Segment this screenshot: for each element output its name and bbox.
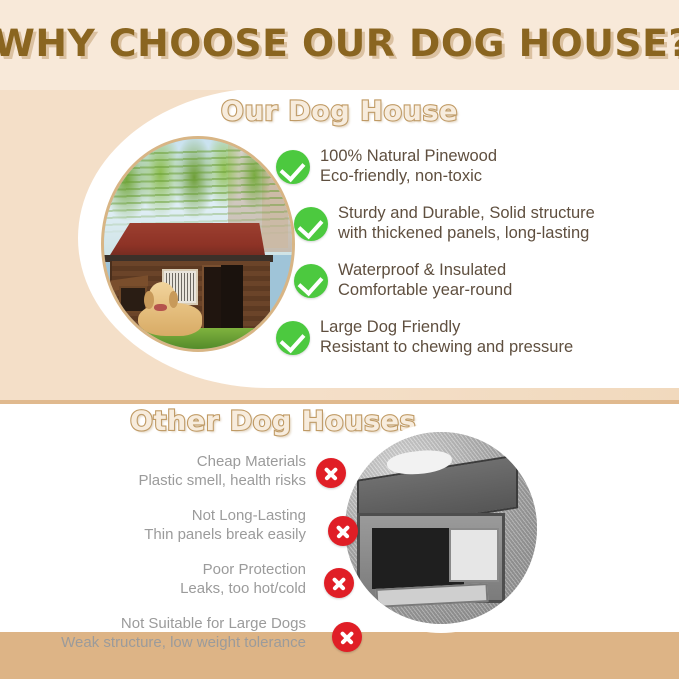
con-line-1: Cheap Materials: [20, 452, 306, 471]
list-item: 100% Natural Pinewood Eco-friendly, non-…: [276, 146, 676, 190]
photo-frame: [101, 136, 295, 352]
pro-line-1: Waterproof & Insulated: [338, 260, 676, 280]
photo-willow-strands: [104, 147, 292, 235]
page-title: WHY CHOOSE OUR DOG HOUSE?": [0, 22, 679, 65]
cons-list: Cheap Materials Plastic smell, health ri…: [20, 452, 350, 668]
pro-line-2: Resistant to chewing and pressure: [320, 337, 676, 358]
pro-line-2: Eco-friendly, non-toxic: [320, 166, 676, 187]
con-line-1: Not Long-Lasting: [20, 506, 306, 525]
pro-line-1: 100% Natural Pinewood: [320, 146, 676, 166]
photo-frame: [345, 432, 537, 624]
x-circle-icon: [324, 568, 354, 598]
photo-door-panel: [221, 265, 244, 328]
infographic-root: WHY CHOOSE OUR DOG HOUSE?" Our Dog House: [0, 0, 679, 679]
con-line-2: Thin panels break easily: [20, 525, 306, 545]
con-line-1: Not Suitable for Large Dogs: [20, 614, 306, 633]
check-circle-icon: [294, 264, 328, 298]
pros-list: 100% Natural Pinewood Eco-friendly, non-…: [276, 146, 676, 374]
con-line-2: Weak structure, low weight tolerance: [20, 633, 306, 653]
pro-line-1: Sturdy and Durable, Solid structure: [338, 203, 676, 223]
list-item: Not Long-Lasting Thin panels break easil…: [20, 506, 350, 546]
dog-ear-right: [169, 291, 179, 308]
list-item: Waterproof & Insulated Comfortable year-…: [276, 260, 676, 304]
other-dog-house-photo: [345, 432, 537, 624]
con-line-2: Plastic smell, health risks: [20, 471, 306, 491]
check-circle-icon: [294, 207, 328, 241]
check-circle-icon: [276, 321, 310, 355]
list-item: Poor Protection Leaks, too hot/cold: [20, 560, 350, 600]
photo-golden-retriever: [138, 282, 202, 337]
list-item: Cheap Materials Plastic smell, health ri…: [20, 452, 350, 492]
x-circle-icon: [328, 516, 358, 546]
dog-mouth: [154, 304, 167, 312]
con-line-2: Leaks, too hot/cold: [20, 579, 306, 599]
section-heading-our-dog-house: Our Dog House: [0, 96, 679, 127]
x-circle-icon: [316, 458, 346, 488]
list-item: Sturdy and Durable, Solid structure with…: [276, 203, 676, 247]
con-line-1: Poor Protection: [20, 560, 306, 579]
pro-line-2: Comfortable year-round: [338, 280, 676, 301]
list-item: Large Dog Friendly Resistant to chewing …: [276, 317, 676, 361]
photo-shingle-roof: [108, 223, 266, 259]
x-circle-icon: [332, 622, 362, 652]
our-dog-house-photo: [92, 126, 304, 362]
pro-line-2: with thickened panels, long-lasting: [338, 223, 676, 244]
list-item: Not Suitable for Large Dogs Weak structu…: [20, 614, 350, 654]
pro-line-1: Large Dog Friendly: [320, 317, 676, 337]
check-circle-icon: [276, 150, 310, 184]
photo-broken-panel: [449, 528, 499, 582]
